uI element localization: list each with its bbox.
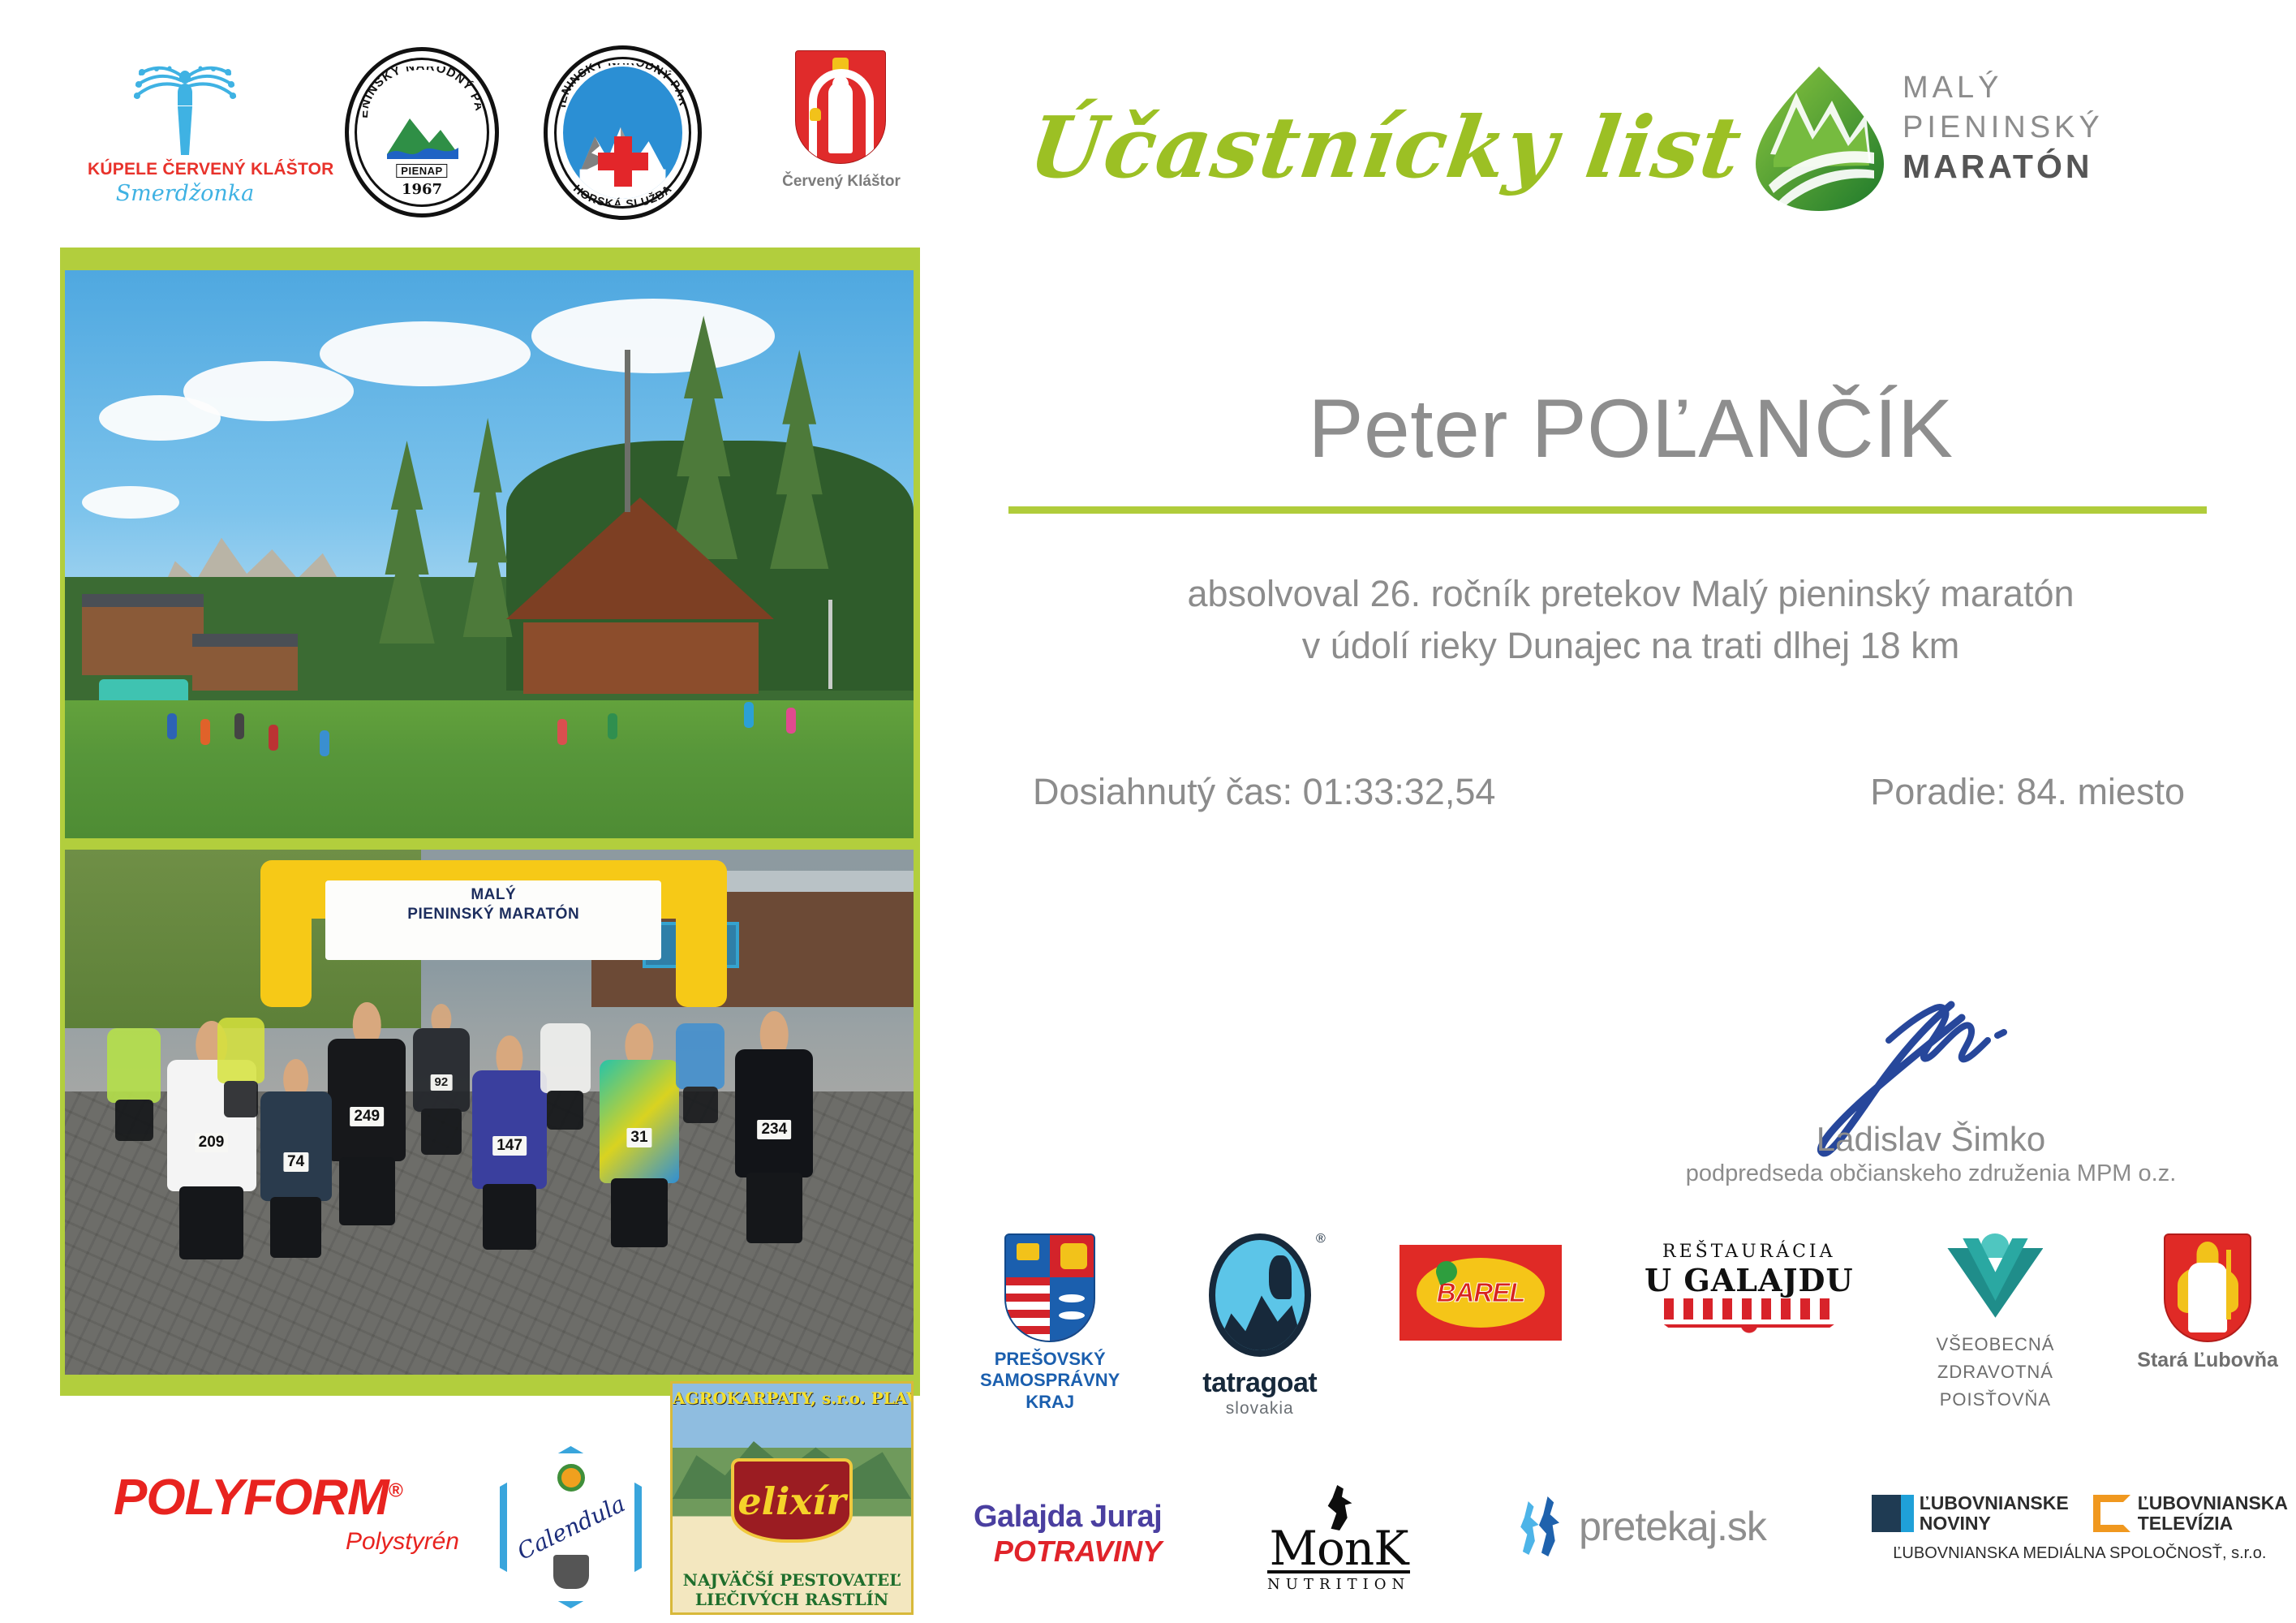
ln-line2: NOVINY [1920,1513,2069,1534]
chamois-icon [1269,1255,1292,1299]
finish-time: Dosiahnutý čas: 01:33:32,54 [1033,771,1495,813]
runner-torso [413,1028,470,1112]
agrokarpaty-line2: LIEČIVÝCH RASTLÍN [673,1590,911,1609]
psk-line3: KRAJ [980,1392,1120,1413]
description-line-1: absolvoval 26. ročník pretekov Malý pien… [1030,568,2231,620]
hs-arc-text-bottom: HORSKÁ SLUŽBA [561,176,684,205]
visitor [608,713,617,739]
lubovnianske-noviny: ĽUBOVNIANSKE NOVINY [1872,1493,2069,1535]
visitor [320,730,329,756]
event-logo: MALÝ PIENINSKÝ MARATÓN [1752,63,2272,217]
runner: 74 [260,1091,332,1294]
sponsor-obec-cerveny-klastor: Červený Kláštor [772,47,910,222]
sponsor-galajda-juraj: Galajda Juraj POTRAVINY [974,1500,1162,1569]
monk-name: MonK [1267,1527,1410,1573]
visitor [557,719,567,745]
bib-number: 92 [431,1074,453,1091]
runner: 31 [600,1060,679,1289]
kupele-name: KÚPELE ČERVENÝ KLÁŠTOR [88,160,282,179]
event-logo-line1: MALÝ [1903,68,2268,108]
svg-text:PIENINSKÝ NÁRODNÝ PARK: PIENINSKÝ NÁRODNÝ PARK [561,63,684,108]
sponsor-polyform: POLYFORM® Polystyrén [114,1469,471,1556]
trademark-symbol: ® [1316,1232,1326,1246]
red-cross-horizontal [598,153,648,170]
galajdu-line2: U GALAJDU [1645,1262,1854,1298]
top-sponsor-strip: KÚPELE ČERVENÝ KLÁŠTOR Smerdžonka PIENIN… [0,0,957,243]
vszp-line2: ZDRAVOTNÁ [1936,1358,2054,1386]
lms-footer: ĽUBOVNIANSKA MEDIÁLNA SPOLOČNOSŤ, s.r.o. [1872,1544,2288,1563]
runner-legs [611,1178,669,1247]
lt-line2: TELEVÍZIA [2138,1513,2288,1534]
signatory-name: Ladislav Šimko [1615,1120,2247,1159]
runner: 147 [472,1070,547,1289]
monk-robe [828,82,853,153]
runner [217,1018,264,1139]
rank-placing: Poradie: 84. miesto [1870,771,2185,813]
sponsor-kupele-cerveny-klastor: KÚPELE ČERVENÝ KLÁŠTOR Smerdžonka [88,61,282,215]
elixir-brand: elixír [737,1479,845,1523]
description-line-2: v údolí rieky Dunajec na trati dlhej 18 … [1030,620,2231,672]
certificate-description: absolvoval 26. ročník pretekov Malý pien… [1030,568,2231,672]
runner-legs [683,1087,718,1123]
sponsor-barel: BAREL [1400,1245,1562,1341]
sponsor-presovsky-kraj: PREŠOVSKÝ SAMOSPRÁVNY KRAJ [980,1233,1120,1413]
crown-charge [1017,1243,1039,1260]
mountain-river-icon [382,107,463,169]
cloud [82,486,179,519]
kupele-subtitle: Smerdžonka [88,181,282,206]
visitor [167,713,177,739]
sponsor-monk-nutrition: MonK NUTRITION [1267,1485,1410,1593]
folk-ornament-icon [1664,1324,1834,1373]
photo-collage: MALÝ PIENINSKÝ MARATÓN 209 249 74 14 [60,248,920,1396]
runner-torso [472,1070,547,1189]
cloud [320,321,531,386]
photo-venue [65,270,914,838]
galajdu-line1: REŠTAURÁCIA [1645,1242,1854,1262]
polyform-tagline: Polystyrén [114,1528,471,1556]
pole [828,600,832,689]
photo-race-start: MALÝ PIENINSKÝ MARATÓN 209 249 74 14 [65,850,914,1375]
lion-charge [1060,1243,1086,1268]
participant-name: Peter POĽANČÍK [1030,381,2231,476]
presovsky-kraj-text: PREŠOVSKÝ SAMOSPRÁVNY KRAJ [980,1349,1120,1413]
psk-line1: PREŠOVSKÝ [980,1349,1120,1370]
runner [676,1023,724,1145]
bib-number: 234 [757,1120,791,1139]
lt-logo-icon [2093,1495,2130,1532]
runner: 234 [735,1049,813,1286]
teal-v-heart-icon [1947,1233,2043,1323]
runner-legs [224,1081,258,1117]
runner-torso [217,1018,264,1083]
tatragoat-tagline: slovakia [1202,1399,1317,1419]
runner-legs [547,1091,583,1130]
start-arch: MALÝ PIENINSKÝ MARATÓN [260,860,727,1007]
bib-number: 74 [283,1152,308,1172]
fish-charge [1059,1311,1085,1319]
svg-text:HORSKÁ SLUŽBA: HORSKÁ SLUŽBA [571,182,674,205]
crosier-staff [2226,1250,2231,1319]
ln-text: ĽUBOVNIANSKE NOVINY [1920,1493,2069,1535]
sponsor-horska-sluzba: PIENINSKÝ NÁRODNÝ PARK HORSKÁ SLUŽBA [544,45,702,220]
wooden-house [192,634,298,691]
sponsor-row-2: Galajda Juraj POTRAVINY MonK NUTRITION p… [974,1485,2288,1593]
angel-water-wings-icon [124,61,246,158]
sponsor-tatragoat: ® tatragoat slovakia [1202,1233,1317,1419]
runner-torso [676,1023,724,1089]
green-divider [1008,506,2207,514]
quarter-bottom-right [1050,1277,1094,1341]
sponsor-row-1: PREŠOVSKÝ SAMOSPRÁVNY KRAJ ® tatragoat s… [980,1233,2278,1419]
marigold-flower-icon [557,1464,585,1492]
runner-legs [270,1197,321,1258]
runner: 249 [328,1039,406,1266]
ln-line1: ĽUBOVNIANSKE [1920,1493,2069,1513]
arch-leg-left [260,860,312,1007]
runner-torso [260,1091,332,1201]
sponsor-u-galajdu: REŠTAURÁCIA U GALAJDU [1645,1242,1854,1373]
pretekaj-name: pretekaj.sk [1579,1503,1766,1550]
amphitheatre-stage [523,622,759,694]
signature-block: Ladislav Šimko podpredseda občianskeho z… [1615,998,2247,1064]
vszp-line1: VŠEOBECNÁ [1936,1331,2054,1358]
mortar-pestle-icon [553,1555,589,1589]
ln-logo-icon [1872,1495,1912,1532]
signatory-role: podpredseda občianskeho združenia MPM o.… [1615,1160,2247,1187]
visitor [234,713,244,739]
sponsor-vszp: VŠEOBECNÁ ZDRAVOTNÁ POISŤOVŇA [1936,1233,2054,1414]
coat-of-arms-monk-icon [795,50,886,164]
runner-torso [735,1049,813,1177]
psk-line2: SAMOSPRÁVNY [980,1370,1120,1391]
visitor [200,719,210,745]
cloud [183,361,354,421]
coat-of-arms-bishop-icon [2164,1233,2251,1342]
roof-mast [625,350,630,512]
runner: 92 [413,1028,470,1182]
arch-leg-right [676,860,727,1007]
bib-number: 147 [492,1136,527,1156]
quartered-coat-of-arms-icon [1004,1233,1095,1342]
galajda-line2: POTRAVINY [974,1535,1162,1569]
bib-number: 249 [350,1107,384,1126]
chamois-mountain-oval-icon [1209,1233,1311,1357]
runner-torso [540,1023,591,1093]
polyform-name: POLYFORM® [114,1469,471,1526]
wooden-lodge [82,594,204,675]
visitor [269,725,278,751]
stara-lubovna-label: Stará Ľubovňa [2137,1349,2278,1372]
runner-legs [115,1100,154,1141]
sponsor-lubovnianska-medialna: ĽUBOVNIANSKE NOVINY ĽUBOVNIANSKA TELEVÍZ… [1872,1493,2288,1563]
barel-name: BAREL [1437,1277,1525,1308]
barel-oval: BAREL [1417,1258,1545,1328]
bishop-robe [2188,1263,2227,1332]
lubovnianska-televizia: ĽUBOVNIANSKA TELEVÍZIA [2093,1493,2288,1535]
lt-line1: ĽUBOVNIANSKA [2138,1493,2288,1513]
runner-silhouette-light [1516,1501,1543,1555]
galajda-line1: Galajda Juraj [974,1500,1162,1535]
results-row: Dosiahnutý čas: 01:33:32,54 Poradie: 84.… [1008,771,2209,813]
agrokarpaty-line1: NAJVÄČŠÍ PESTOVATEĽ [673,1570,911,1590]
folk-ornament-band [1664,1298,1834,1319]
cerveny-klastor-label: Červený Kláštor [772,173,910,191]
arch-banner-line2: PIENINSKÝ MARATÓN [325,905,661,924]
agrokarpaty-company: AGROKARPATY, s.r.o. PLAVNICA [673,1388,911,1408]
runner-legs [483,1184,536,1250]
bell-icon [810,108,821,121]
tatragoat-name: tatragoat [1202,1367,1317,1399]
runner-torso [600,1060,679,1183]
runner-legs [746,1173,802,1244]
event-logo-line3: MARATÓN [1903,147,2268,187]
runner-legs [339,1157,395,1225]
event-logo-text: MALÝ PIENINSKÝ MARATÓN [1903,68,2268,187]
runner-torso [328,1039,406,1161]
vszp-text: VŠEOBECNÁ ZDRAVOTNÁ POISŤOVŇA [1936,1331,2054,1414]
sponsor-agrokarpaty: AGROKARPATY, s.r.o. PLAVNICA elixír NAJV… [670,1381,914,1615]
event-logo-line2: PIENINSKÝ [1903,108,2268,148]
green-leaf-mountain-mark-icon [1752,63,1886,213]
runner-torso [107,1028,161,1103]
quarter-bottom-left [1006,1277,1050,1341]
lt-text: ĽUBOVNIANSKA TELEVÍZIA [2138,1493,2288,1535]
sponsor-pieninsky-narodny-park: PIENINSKÝ NÁRODNÝ PARK PIENAP 1967 [345,47,499,217]
runner [107,1028,161,1166]
vszp-line3: POISŤOVŇA [1936,1386,2054,1414]
runner-silhouette-dark [1533,1496,1564,1556]
sponsor-stara-lubovna: Stará Ľubovňa [2137,1233,2278,1372]
runner-legs [421,1109,462,1155]
two-runners-icon [1516,1496,1569,1556]
bib-number: 31 [626,1128,651,1147]
media-brands-row: ĽUBOVNIANSKE NOVINY ĽUBOVNIANSKA TELEVÍZ… [1872,1493,2288,1535]
arch-banner: MALÝ PIENINSKÝ MARATÓN [325,880,661,960]
sponsor-pretekaj-sk: pretekaj.sk [1516,1496,1766,1556]
cloud [531,299,775,373]
runner-legs [179,1186,243,1259]
sponsor-calendula: Calendula [500,1446,642,1608]
barel-logo: BAREL [1400,1245,1562,1341]
monk-tagline: NUTRITION [1267,1576,1410,1593]
visitor [744,702,754,728]
pienap-label: PIENAP [396,164,447,178]
pienap-year: 1967 [345,181,499,198]
certificate-title: Účastnícky list [1023,97,1751,197]
trademark-symbol: ® [389,1479,402,1501]
arch-banner-line1: MALÝ [325,885,661,905]
visitor [786,708,796,734]
hs-arc-text-top: PIENINSKÝ NÁRODNÝ PARK [561,63,684,112]
runner [540,1023,591,1153]
